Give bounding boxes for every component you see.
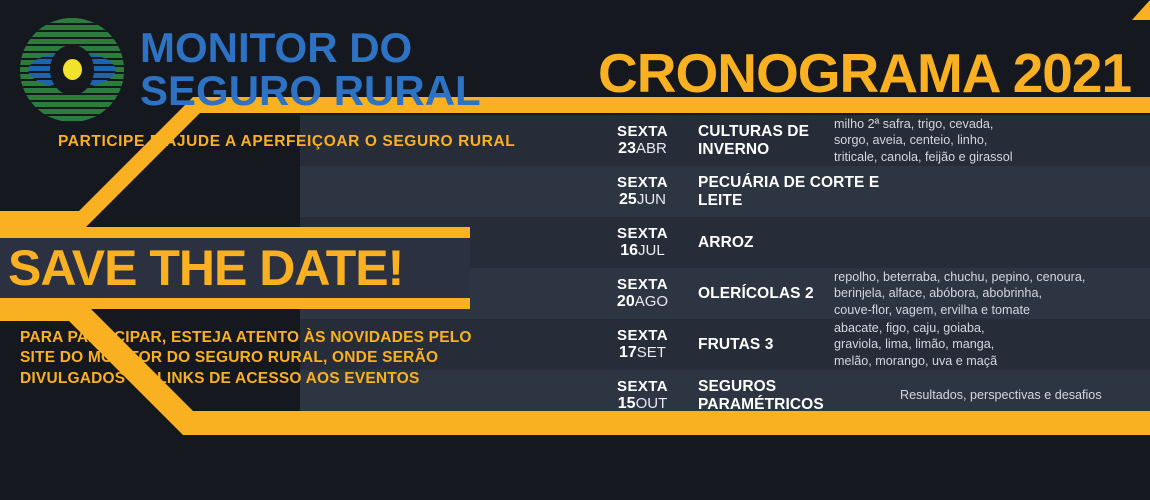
participation-blurb: PARA PARTICIPAR, ESTEJA ATENTO ÀS NOVIDA… xyxy=(20,328,490,389)
table-row: SEXTA 23ABR CULTURAS DE INVERNO milho 2ª… xyxy=(595,115,1150,166)
row-month: JUN xyxy=(637,191,666,208)
blurb-line-2: SITE DO MONITOR DO SEGURO RURAL, ONDE SE… xyxy=(20,348,490,368)
save-the-date-panel: SAVE THE DATE! xyxy=(0,238,470,298)
row-desc-line: couve-flor, vagem, ervilha e tomate xyxy=(834,302,1150,319)
row-weekday: SEXTA xyxy=(595,226,690,242)
row-month: JUL xyxy=(638,242,665,259)
row-day: 25 xyxy=(619,191,637,208)
row-weekday: SEXTA xyxy=(595,328,690,344)
row-date: SEXTA 17SET xyxy=(595,328,690,361)
save-the-date-block: SAVE THE DATE! xyxy=(0,227,470,309)
table-row: SEXTA 15OUT SEGUROS PARAMÉTRICOS Resulta… xyxy=(595,370,1150,421)
row-day: 17 xyxy=(619,344,637,361)
row-month: OUT xyxy=(636,395,668,412)
schedule-table: SEXTA 23ABR CULTURAS DE INVERNO milho 2ª… xyxy=(595,115,1150,421)
row-date: SEXTA 25JUN xyxy=(595,175,690,208)
schedule-heading: CRONOGRAMA 2021 xyxy=(598,46,1131,101)
blurb-line-3: DIVULGADOS OS LINKS DE ACESSO AOS EVENTO… xyxy=(20,369,490,389)
brand-wordmark: MONITOR DO SEGURO RURAL xyxy=(140,27,481,113)
row-description: abacate, figo, caju, goiaba, graviola, l… xyxy=(830,320,1150,370)
row-title: CULTURAS DE INVERNO xyxy=(690,123,830,158)
row-date: SEXTA 20AGO xyxy=(595,277,690,310)
table-row: SEXTA 20AGO OLERÍCOLAS 2 repolho, beterr… xyxy=(595,268,1150,319)
row-desc-line: abacate, figo, caju, goiaba, xyxy=(834,320,1150,337)
brand-title-line2: SEGURO RURAL xyxy=(140,70,481,113)
row-day: 23 xyxy=(618,140,636,157)
poster-canvas: MONITOR DO SEGURO RURAL PARTICIPE E AJUD… xyxy=(0,0,1150,500)
row-description: repolho, beterraba, chuchu, pepino, ceno… xyxy=(830,269,1150,319)
table-row: SEXTA 25JUN PECUÁRIA DE CORTE E LEITE xyxy=(595,166,1150,217)
row-weekday: SEXTA xyxy=(595,124,690,140)
row-date: SEXTA 15OUT xyxy=(595,379,690,412)
row-description: Resultados, perspectivas e desafios xyxy=(890,387,1150,404)
row-day: 20 xyxy=(617,293,635,310)
row-weekday: SEXTA xyxy=(595,175,690,191)
row-desc-line: graviola, lima, limão, manga, xyxy=(834,336,1150,353)
row-date: SEXTA 16JUL xyxy=(595,226,690,259)
row-title: ARROZ xyxy=(690,234,830,251)
row-title: OLERÍCOLAS 2 xyxy=(690,285,830,302)
brand-logo-block: MONITOR DO SEGURO RURAL xyxy=(20,18,481,122)
save-the-date-top-rule xyxy=(0,227,470,238)
row-desc-line: milho 2ª safra, trigo, cevada, xyxy=(834,116,1150,133)
row-desc-line: sorgo, aveia, centeio, linho, xyxy=(834,132,1150,149)
row-desc-line: melão, morango, uva e maçã xyxy=(834,353,1150,370)
row-weekday: SEXTA xyxy=(595,379,690,395)
row-day: 16 xyxy=(620,242,638,259)
blurb-line-1: PARA PARTICIPAR, ESTEJA ATENTO ÀS NOVIDA… xyxy=(20,328,490,348)
row-weekday: SEXTA xyxy=(595,277,690,293)
table-row: SEXTA 16JUL ARROZ xyxy=(595,217,1150,268)
row-desc-line: repolho, beterraba, chuchu, pepino, ceno… xyxy=(834,269,1150,286)
brand-title-line1: MONITOR DO xyxy=(140,27,481,70)
row-desc-line: berinjela, alface, abóbora, abobrinha, xyxy=(834,285,1150,302)
row-title: FRUTAS 3 xyxy=(690,336,830,353)
row-month: AGO xyxy=(635,293,668,310)
row-date: SEXTA 23ABR xyxy=(595,124,690,157)
row-title: SEGUROS PARAMÉTRICOS xyxy=(690,378,890,413)
save-the-date-bottom-rule xyxy=(0,298,470,309)
save-the-date-headline: SAVE THE DATE! xyxy=(0,243,403,293)
row-description: milho 2ª safra, trigo, cevada, sorgo, av… xyxy=(830,116,1150,166)
row-day: 15 xyxy=(618,395,636,412)
row-title: PECUÁRIA DE CORTE E LEITE xyxy=(690,174,890,209)
table-row: SEXTA 17SET FRUTAS 3 abacate, figo, caju… xyxy=(595,319,1150,370)
eye-circle-logo-icon xyxy=(20,18,124,122)
row-month: ABR xyxy=(636,140,667,157)
row-month: SET xyxy=(637,344,666,361)
row-desc-line: triticale, canola, feijão e girassol xyxy=(834,149,1150,166)
brand-tagline: PARTICIPE E AJUDE A APERFEIÇOAR O SEGURO… xyxy=(58,133,515,151)
